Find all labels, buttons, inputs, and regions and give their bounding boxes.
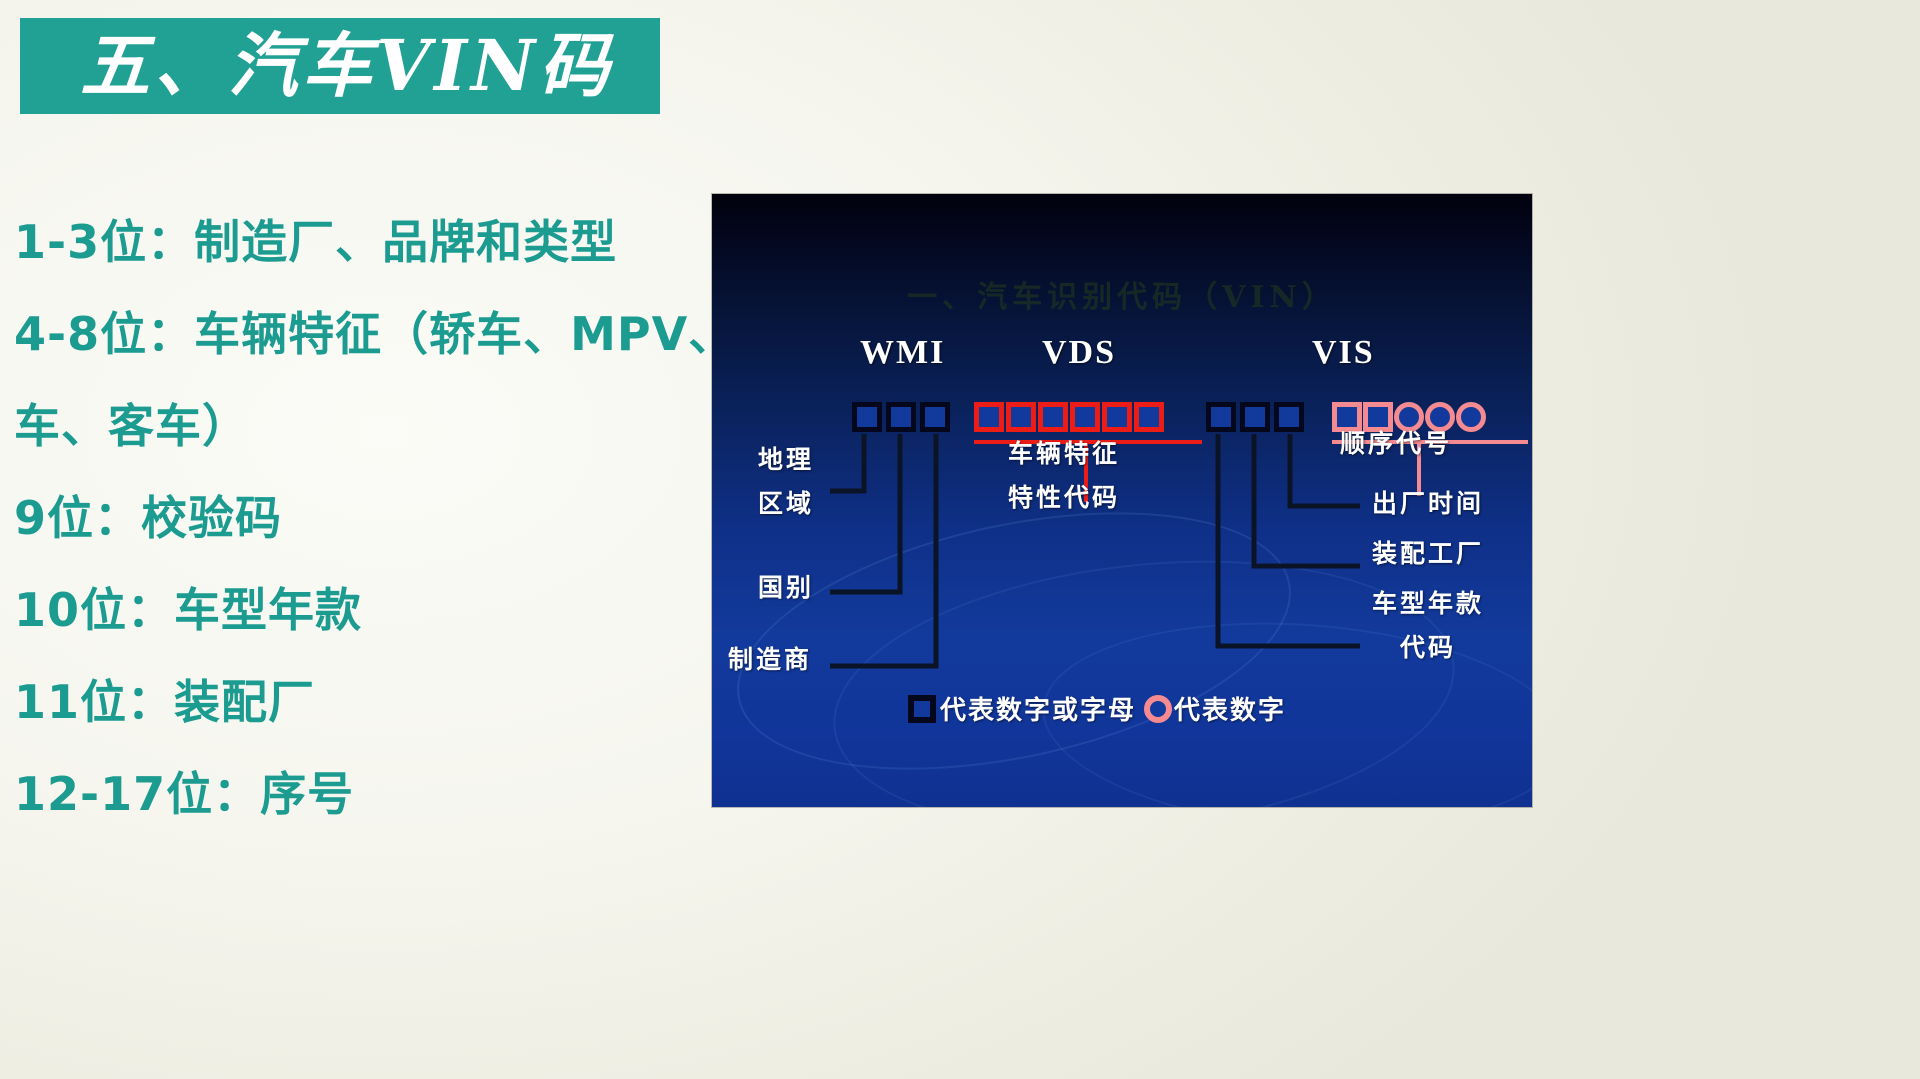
vin-circle-pink [1456, 402, 1486, 432]
vin-box-red [974, 402, 1004, 432]
label-model-year-code: 车型年款 代码 [1372, 582, 1484, 670]
legend-circle-label: 代表数字 [1174, 690, 1286, 727]
label-geographic-region: 地理 区域 [758, 438, 814, 526]
vin-box-red [1134, 402, 1164, 432]
section-header-vds: VDS [1042, 334, 1116, 372]
label-line: 特性代码 [1008, 476, 1120, 520]
legend-circle-icon [1144, 695, 1172, 723]
vin-box-dark [920, 402, 950, 432]
vin-box-red [1006, 402, 1036, 432]
vin-box-red [1070, 402, 1100, 432]
label-line: 车型年款 [1372, 582, 1484, 626]
label-line: 车辆特征 [1008, 432, 1120, 476]
legend-square-label: 代表数字或字母 [940, 690, 1136, 727]
vin-box-dark [886, 402, 916, 432]
label-manufacturer: 制造商 [728, 638, 812, 682]
label-assembly-plant: 装配工厂 [1372, 532, 1484, 576]
diagram-ghost-title: 一、汽车识别代码（VIN） [712, 272, 1532, 316]
diagram-legend: 代表数字或字母 代表数字 [908, 690, 1286, 727]
vin-box-dark [1274, 402, 1304, 432]
vin-box-dark [852, 402, 882, 432]
label-factory-time: 出厂时间 [1372, 482, 1484, 526]
label-line: 区域 [758, 482, 814, 526]
label-country: 国别 [758, 566, 814, 610]
vis-dark-box-row [1206, 402, 1308, 432]
section-header-vis: VIS [1312, 334, 1375, 372]
vin-box-dark [1240, 402, 1270, 432]
label-sequence-code: 顺序代号 [1340, 422, 1452, 466]
vin-box-red [1102, 402, 1132, 432]
vds-box-row [974, 402, 1166, 432]
vin-box-dark [1206, 402, 1236, 432]
section-header-wmi: WMI [860, 334, 945, 372]
label-vehicle-feature: 车辆特征 特性代码 [1008, 432, 1120, 520]
label-line: 代码 [1372, 626, 1484, 670]
legend-square-icon [908, 695, 936, 723]
wmi-box-row [852, 402, 954, 432]
vin-structure-diagram: 一、汽车识别代码（VIN） WMI VDS VIS [712, 194, 1532, 807]
slide-title-banner: 五、汽车VIN码 [20, 18, 660, 114]
vin-box-red [1038, 402, 1068, 432]
page-title: 五、汽车VIN码 [20, 31, 613, 101]
label-line: 地理 [758, 438, 814, 482]
